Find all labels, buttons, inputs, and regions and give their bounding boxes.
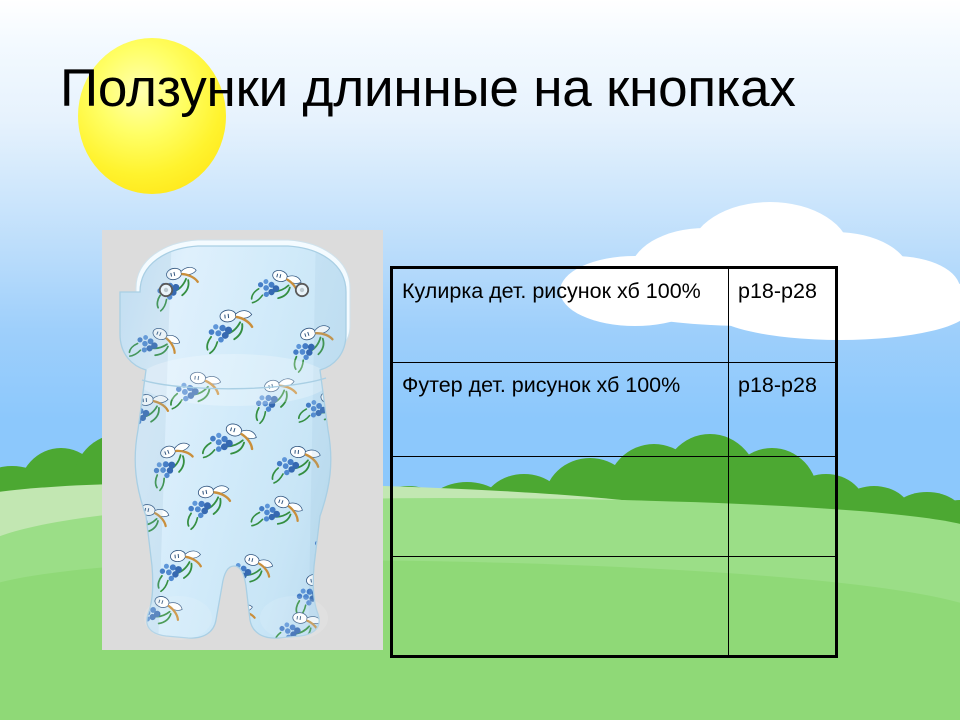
table-cell-material: Кулирка дет. рисунок хб 100%	[392, 268, 729, 363]
table-cell-size: р18-р28	[729, 363, 837, 457]
slide-canvas: Ползунки длинные на кнопках	[0, 0, 960, 720]
table-cell-material	[392, 557, 729, 657]
table-row: Футер дет. рисунок хб 100% р18-р28	[392, 363, 837, 457]
romper-illustration	[102, 230, 383, 650]
specification-table: Кулирка дет. рисунок хб 100% р18-р28 Фут…	[390, 266, 838, 658]
table-row	[392, 557, 837, 657]
product-photo	[102, 230, 383, 650]
table-cell-size	[729, 557, 837, 657]
page-title: Ползунки длинные на кнопках	[60, 58, 920, 120]
table-cell-material: Футер дет. рисунок хб 100%	[392, 363, 729, 457]
table-cell-material	[392, 457, 729, 557]
table-row: Кулирка дет. рисунок хб 100% р18-р28	[392, 268, 837, 363]
table-cell-size	[729, 457, 837, 557]
table-cell-size: р18-р28	[729, 268, 837, 363]
table-row	[392, 457, 837, 557]
